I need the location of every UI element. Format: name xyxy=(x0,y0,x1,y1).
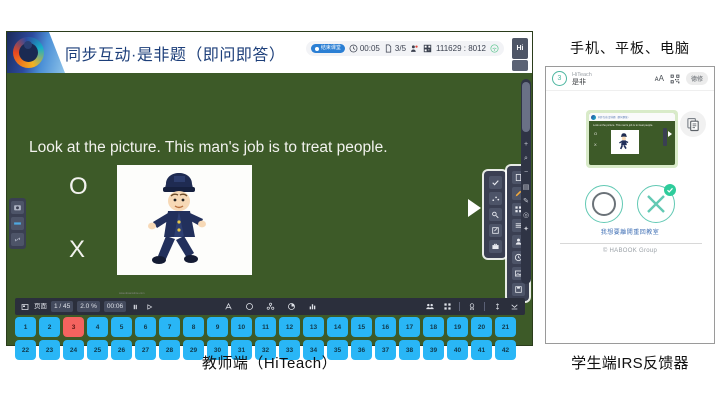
student-client-panel: 3 HiTeach 是非 ᴀA 德修 同步互动·是非题（即问即答） Look a… xyxy=(545,66,715,344)
check-icon[interactable] xyxy=(489,176,502,189)
divider xyxy=(560,243,702,244)
stop-circle-icon xyxy=(315,47,319,51)
font-size-icon[interactable]: ᴀA xyxy=(655,74,664,83)
hi-assistant-button[interactable]: Hi xyxy=(512,38,528,59)
page-title: 同步互动·是非题（即问即答） xyxy=(65,41,285,65)
left-mini-dock[interactable] xyxy=(9,198,26,249)
image-credit: www.dreamstime.com xyxy=(119,292,144,295)
award-icon[interactable] xyxy=(467,302,477,312)
edit-note-icon[interactable] xyxy=(489,224,502,237)
seat-14[interactable]: 14 xyxy=(327,317,348,337)
thumbnail-title: 同步互动·是非题（即问即答） xyxy=(598,115,630,119)
teacher-header-bar: 同步互动·是非题（即问即答） 结束课堂 00:05 3/5 xyxy=(7,32,532,73)
policeman-illustration xyxy=(611,130,639,154)
control-left-group: 页面 1 / 45 2.0 % 00:06 xyxy=(20,301,154,312)
caption-student: 学生端IRS反馈器 xyxy=(541,352,719,373)
thumbnail-header: 同步互动·是非题（即问即答） xyxy=(589,113,675,121)
selected-check-icon xyxy=(664,184,676,196)
student-header-bar: 3 HiTeach 是非 ᴀA 德修 xyxy=(546,67,714,91)
apps-grid-icon[interactable] xyxy=(442,302,452,312)
scrollbar-thumb[interactable] xyxy=(522,82,530,132)
qr-code-icon[interactable] xyxy=(670,74,680,84)
page-indicator[interactable]: 1 / 45 xyxy=(51,301,73,312)
clock-icon xyxy=(349,44,358,53)
student-header-actions: ᴀA 德修 xyxy=(655,72,708,85)
play-arrow-icon[interactable] xyxy=(468,199,481,217)
habook-logo-icon xyxy=(591,115,596,120)
seat-7[interactable]: 7 xyxy=(159,317,180,337)
seat-10[interactable]: 10 xyxy=(231,317,252,337)
page-status: 3/5 xyxy=(384,44,406,53)
seat-2[interactable]: 2 xyxy=(39,317,60,337)
document-copy-icon[interactable] xyxy=(680,111,706,137)
bar-chart-icon[interactable] xyxy=(307,302,317,312)
slide-option-o: O xyxy=(69,173,88,201)
seat-15[interactable]: 15 xyxy=(351,317,372,337)
rail-minus-icon[interactable]: − xyxy=(521,169,531,176)
pause-icon[interactable] xyxy=(130,302,140,312)
wifi-icon xyxy=(490,44,499,53)
divider xyxy=(484,302,485,311)
cross-glyph-icon xyxy=(644,192,668,216)
leave-classroom-link[interactable]: 我想要離開重回教室 xyxy=(546,227,714,236)
seat-18[interactable]: 18 xyxy=(423,317,444,337)
gear-pick-icon[interactable] xyxy=(489,208,502,221)
text-a-icon[interactable] xyxy=(223,302,233,312)
screenshot-icon[interactable] xyxy=(11,201,24,214)
answer-option-o[interactable] xyxy=(585,185,623,223)
activity-toolbar[interactable] xyxy=(484,171,506,258)
student-seat-badge: 3 xyxy=(552,71,567,86)
question-text: Look at the picture. This man's job is t… xyxy=(29,139,388,157)
caption-teacher: 教师端（HiTeach） xyxy=(6,352,533,373)
group-icon[interactable] xyxy=(425,302,435,312)
thumbnail-option-x: X xyxy=(594,142,597,147)
control-right-group xyxy=(425,302,519,312)
hi-assistant-secondary-button[interactable] xyxy=(512,60,528,71)
seat-6[interactable]: 6 xyxy=(135,317,156,337)
slider-icon[interactable] xyxy=(11,217,24,230)
rail-plus-icon[interactable]: + xyxy=(521,141,531,148)
student-app-name: HiTeach xyxy=(572,71,592,79)
circle-icon[interactable] xyxy=(244,302,254,312)
answer-buttons[interactable] xyxy=(546,185,714,223)
student-name-pill[interactable]: 德修 xyxy=(686,72,708,85)
slide-control-bar[interactable]: 页面 1 / 45 2.0 % 00:06 xyxy=(15,298,525,315)
end-class-label: 结束课堂 xyxy=(321,45,341,52)
rail-grid-icon[interactable]: ▤ xyxy=(521,183,531,191)
seat-19[interactable]: 19 xyxy=(447,317,468,337)
thumbnail-option-o: O xyxy=(594,131,597,136)
seat-1[interactable]: 1 xyxy=(15,317,36,337)
slide-canvas[interactable]: Look at the picture. This man's job is t… xyxy=(7,73,532,298)
page-mode-label: 页面 xyxy=(34,302,47,311)
scatter-icon[interactable] xyxy=(489,192,502,205)
timer-value: 00:05 xyxy=(360,44,380,53)
seat-20[interactable]: 20 xyxy=(471,317,492,337)
student-app-info: HiTeach 是非 xyxy=(572,71,592,87)
rail-circle-icon[interactable]: ◎ xyxy=(521,211,531,219)
session-status-bar: 结束课堂 00:05 3/5 xyxy=(306,41,504,56)
timer-status: 00:05 xyxy=(349,44,380,53)
right-scroll-rail[interactable]: + ⌕ − ▤ ✎ ◎ ✦ xyxy=(521,79,531,284)
thumbnail-toolbar xyxy=(663,128,667,146)
page-value: 3/5 xyxy=(395,44,406,53)
rail-star-icon[interactable]: ✦ xyxy=(521,225,531,233)
play-icon[interactable] xyxy=(144,302,154,312)
teacher-client-panel: 同步互动·是非题（即问即答） 结束课堂 00:05 3/5 xyxy=(6,31,533,346)
slide-option-x: X xyxy=(69,236,85,264)
rail-pen-icon[interactable]: ✎ xyxy=(521,197,531,205)
circle-glyph-icon xyxy=(592,192,616,216)
play-arrow-icon xyxy=(668,131,672,137)
people-icon xyxy=(410,44,419,53)
collapse-icon[interactable] xyxy=(509,302,519,312)
seat-9[interactable]: 9 xyxy=(207,317,228,337)
seat-13[interactable]: 13 xyxy=(303,317,324,337)
policeman-illustration xyxy=(117,165,252,275)
seat-21[interactable]: 21 xyxy=(495,317,516,337)
answer-option-x[interactable] xyxy=(637,185,675,223)
session-id: 111629 : 8012 xyxy=(436,44,486,53)
share-icon[interactable] xyxy=(265,302,275,312)
caption-devices: 手机、平板、电脑 xyxy=(541,38,719,58)
seat-8[interactable]: 8 xyxy=(183,317,204,337)
seat-row-1: 123456789101112131415161718192021 xyxy=(15,317,525,337)
seat-5[interactable]: 5 xyxy=(111,317,132,337)
copyright-text: © HABOOK Group xyxy=(546,248,714,254)
rail-search-icon[interactable]: ⌕ xyxy=(521,155,531,163)
thumbnail-icon[interactable] xyxy=(20,302,30,312)
briefcase-icon[interactable] xyxy=(489,240,502,253)
zoom-level[interactable]: 2.0 % xyxy=(77,301,100,312)
qr-icon xyxy=(423,44,432,53)
control-center-group xyxy=(223,302,317,312)
student-mode-label: 是非 xyxy=(572,79,592,87)
link-icon[interactable] xyxy=(11,233,24,246)
seat-11[interactable]: 11 xyxy=(255,317,276,337)
seat-12[interactable]: 12 xyxy=(279,317,300,337)
pie-chart-icon[interactable] xyxy=(286,302,296,312)
elapsed-time: 00:06 xyxy=(104,301,126,312)
seat-4[interactable]: 4 xyxy=(87,317,108,337)
habook-logo-icon xyxy=(7,32,53,73)
divider xyxy=(459,302,460,311)
save-icon[interactable] xyxy=(512,283,525,296)
slide-thumbnail[interactable]: 同步互动·是非题（即问即答） Look at the picture. This… xyxy=(586,110,678,168)
seat-3[interactable]: 3 xyxy=(63,317,84,337)
end-class-button[interactable]: 结束课堂 xyxy=(311,44,345,53)
thumbnail-question: Look at the picture. This man's job is t… xyxy=(593,124,653,127)
resize-icon[interactable] xyxy=(492,302,502,312)
seat-17[interactable]: 17 xyxy=(399,317,420,337)
seat-16[interactable]: 16 xyxy=(375,317,396,337)
page-icon xyxy=(384,44,393,53)
